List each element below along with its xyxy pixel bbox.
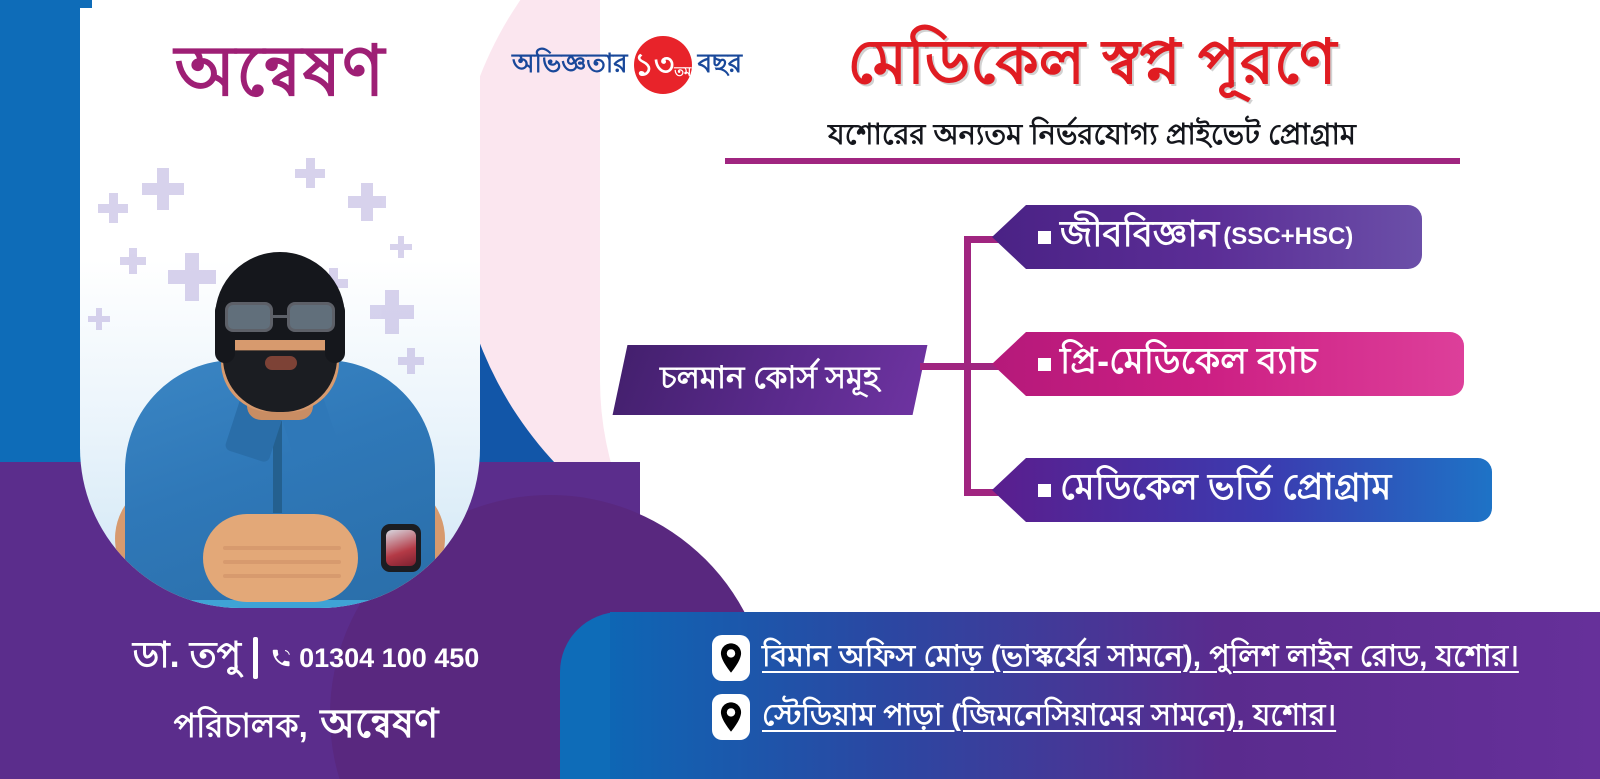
experience-year-badge: ১৩ তম — [634, 36, 692, 94]
location-item: স্টেডিয়াম পাড়া (জিমনেসিয়ামের সামনে), … — [712, 691, 1542, 742]
map-pin-chip — [712, 635, 750, 681]
course-item-biology[interactable]: জীববিজ্ঞান (SSC+HSC) — [992, 205, 1422, 269]
director-brand: অন্বেষণ — [320, 702, 438, 746]
map-pin-icon — [720, 643, 742, 673]
location-address: স্টেডিয়াম পাড়া (জিমনেসিয়ামের সামনে), … — [762, 691, 1336, 742]
experience-prefix: অভিজ্ঞতার — [512, 43, 628, 87]
experience-badge-group: অভিজ্ঞতার ১৩ তম বছর — [512, 36, 742, 94]
courses-label-text: চলমান কোর্স সমূহ — [660, 354, 879, 406]
map-pin-icon — [720, 702, 742, 732]
location-address: বিমান অফিস মোড় (ভাস্কর্যের সামনে), পুলি… — [762, 632, 1519, 683]
bullet-square-icon — [1038, 358, 1051, 371]
director-role: পরিচালক, — [174, 707, 308, 744]
course-item-medical-admission[interactable]: মেডিকেল ভর্তি প্রোগ্রাম — [992, 458, 1492, 522]
promotional-banner: অন্বেষণ — [0, 0, 1600, 779]
phone-icon — [270, 647, 292, 669]
bullet-square-icon — [1038, 231, 1051, 244]
director-photo-card: অন্বেষণ — [80, 8, 480, 608]
courses-label-tag: চলমান কোর্স সমূহ — [613, 345, 928, 415]
course-title: জীববিজ্ঞান — [1060, 207, 1219, 267]
experience-year-number: ১৩ — [634, 49, 674, 94]
courses-section: চলমান কোর্স সমূহ জীববিজ্ঞান (SSC+HSC) প্… — [620, 230, 1520, 530]
page-title: মেডিকেল স্বপ্ন পূরণে — [742, 30, 1442, 95]
bullet-square-icon — [1038, 484, 1051, 497]
director-name: ডা. তপু — [133, 628, 241, 688]
vertical-divider — [253, 637, 258, 679]
director-portrait — [115, 178, 445, 608]
medical-cross-icon — [88, 308, 110, 330]
location-item: বিমান অফিস মোড় (ভাস্কর্যের সামনে), পুলি… — [712, 632, 1542, 683]
director-phone-number: 01304 100 450 — [299, 643, 479, 674]
experience-suffix: বছর — [698, 43, 743, 87]
director-phone[interactable]: 01304 100 450 — [270, 643, 479, 674]
director-contact-block: ডা. তপু 01304 100 450 পরিচালক, অন্বেষণ — [96, 628, 516, 759]
course-suffix: (SSC+HSC) — [1223, 223, 1353, 251]
map-pin-chip — [712, 694, 750, 740]
experience-year-ordinal: তম — [674, 65, 691, 94]
brand-logo-text: অন্বেষণ — [80, 36, 480, 106]
background-left-blue-strip — [0, 0, 92, 470]
locations-list: বিমান অফিস মোড় (ভাস্কর্যের সামনে), পুলি… — [712, 632, 1542, 750]
course-title: প্রি-মেডিকেল ব্যাচ — [1060, 334, 1317, 394]
title-divider — [725, 158, 1460, 164]
course-item-pre-medical[interactable]: প্রি-মেডিকেল ব্যাচ — [992, 332, 1464, 396]
page-subtitle: যশোরের অন্যতম নির্ভরযোগ্য প্রাইভেট প্রোগ… — [742, 112, 1442, 161]
course-title: মেডিকেল ভর্তি প্রোগ্রাম — [1060, 460, 1391, 520]
